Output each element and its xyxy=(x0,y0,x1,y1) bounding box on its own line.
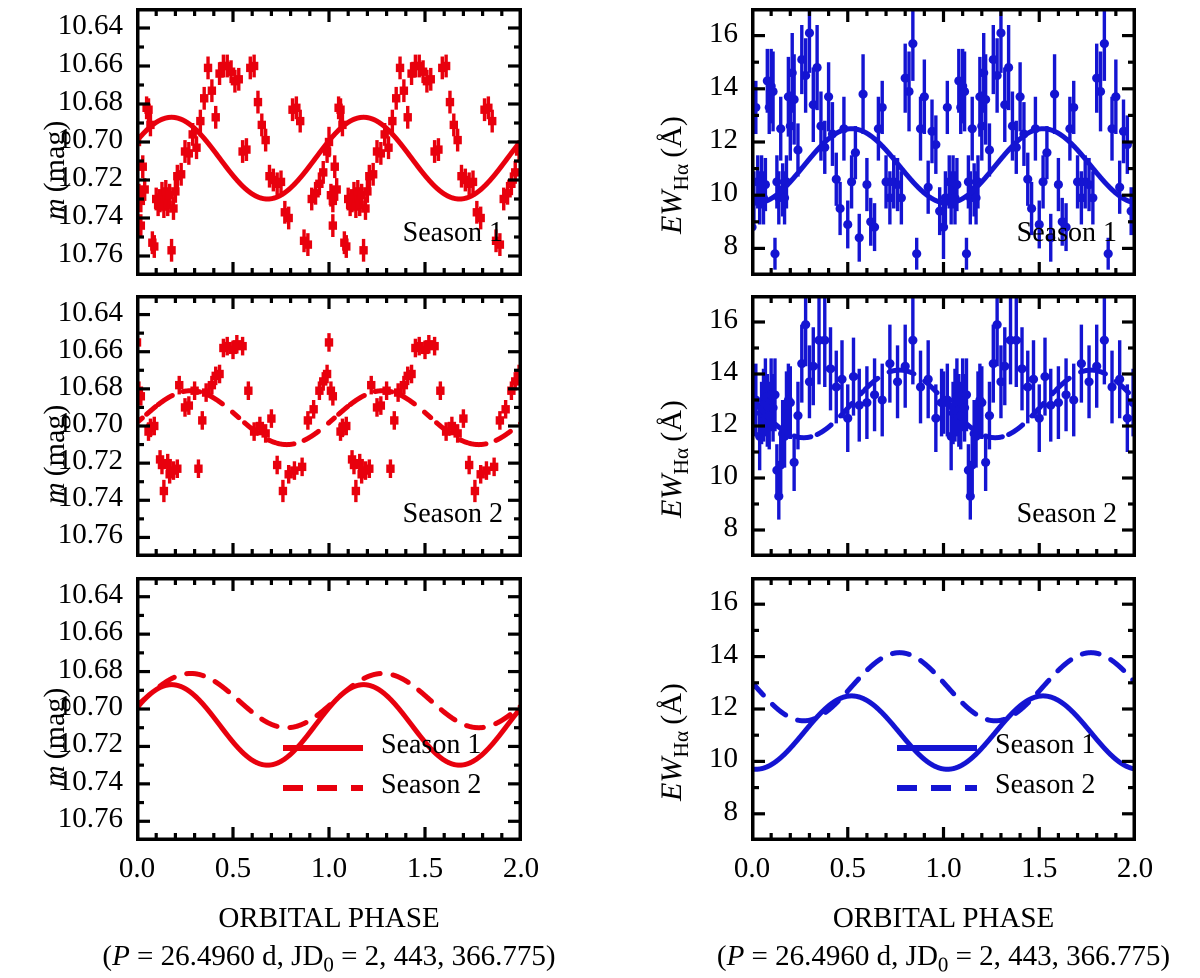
data-point xyxy=(204,64,212,72)
data-point xyxy=(171,187,179,195)
legend-label-season-1: Season 1 xyxy=(381,729,481,761)
data-point xyxy=(1023,382,1032,391)
data-point xyxy=(1100,336,1109,345)
data-point xyxy=(893,377,902,386)
data-point xyxy=(140,185,148,193)
ylabel-subscript: Hα xyxy=(669,164,693,191)
data-point xyxy=(342,242,350,250)
data-point xyxy=(450,121,458,129)
data-point xyxy=(329,221,337,229)
ytick-label-ew-comparison-1: 14 xyxy=(709,638,738,671)
period-symbol: P xyxy=(112,940,130,972)
data-point xyxy=(793,145,802,154)
data-point xyxy=(801,320,810,329)
data-point xyxy=(185,401,193,409)
data-point xyxy=(1096,87,1105,96)
xaxis-ephemeris-col0: (P = 26.4960 d, JD0 = 2, 443, 366.775) xyxy=(102,940,555,978)
data-point xyxy=(177,170,185,178)
data-point xyxy=(329,392,337,400)
data-point xyxy=(1084,377,1093,386)
ytick-label-mag-season2-1: 10.66 xyxy=(58,333,123,366)
xtick-label-col0-2: 1.0 xyxy=(311,852,347,885)
data-point xyxy=(1029,375,1038,384)
data-point xyxy=(384,144,392,152)
ylabel-subscript: Hα xyxy=(669,448,693,475)
data-point xyxy=(770,390,779,399)
data-point xyxy=(858,90,867,99)
data-point xyxy=(943,103,952,112)
data-point xyxy=(1017,364,1026,373)
data-point xyxy=(331,163,339,171)
data-point xyxy=(962,390,971,399)
data-point xyxy=(908,336,917,345)
data-point xyxy=(931,140,940,149)
data-point xyxy=(377,149,385,157)
data-point xyxy=(196,117,204,125)
ytick-label-ew-comparison-3: 10 xyxy=(709,742,738,775)
ytick-label-ew-season1-2: 12 xyxy=(709,123,738,156)
ylabel-mag-row1: m (mag) xyxy=(38,405,72,504)
ytick-label-mag-comparison-6: 10.76 xyxy=(58,802,123,835)
data-point xyxy=(1040,372,1049,381)
ylabel-unit: (Å) xyxy=(655,116,688,158)
data-point xyxy=(1111,92,1120,101)
ylabel-symbol: m xyxy=(38,765,71,787)
data-point xyxy=(1000,362,1009,371)
data-point xyxy=(488,117,496,125)
data-point xyxy=(837,375,846,384)
data-point xyxy=(996,28,1005,37)
data-point xyxy=(870,223,879,232)
data-point xyxy=(238,342,246,350)
data-point xyxy=(862,398,871,407)
data-point xyxy=(790,95,799,104)
data-point xyxy=(878,395,887,404)
ylabel-unit: (mag) xyxy=(38,121,71,193)
data-point xyxy=(916,382,925,391)
data-point xyxy=(849,372,858,381)
data-point xyxy=(150,242,158,250)
ytick-label-mag-season1-6: 10.76 xyxy=(58,237,123,270)
data-point xyxy=(325,338,333,346)
xtick-label-col1-2: 1.0 xyxy=(925,852,961,885)
ytick-label-ew-season2-4: 8 xyxy=(724,511,739,544)
data-point xyxy=(862,180,871,189)
data-point xyxy=(434,145,442,153)
ylabel-symbol: EW xyxy=(655,191,688,234)
xaxis-ephemeris-col1: (P = 26.4960 d, JD0 = 2, 443, 366.775) xyxy=(717,940,1170,978)
data-point xyxy=(369,170,377,178)
data-point xyxy=(482,466,490,474)
ylabel-unit: (Å) xyxy=(655,683,688,725)
data-point xyxy=(365,465,373,473)
data-point xyxy=(242,145,250,153)
data-point xyxy=(256,422,264,430)
data-point xyxy=(805,28,814,37)
data-point xyxy=(342,422,350,430)
xtick-label-col1-0: 0.0 xyxy=(734,852,770,885)
xtick-label-col0-4: 2.0 xyxy=(503,852,539,885)
data-point xyxy=(290,466,298,474)
data-point xyxy=(386,465,394,473)
data-point xyxy=(427,75,435,83)
data-point xyxy=(855,233,864,242)
data-point xyxy=(459,414,467,422)
data-point xyxy=(952,180,961,189)
data-point xyxy=(430,342,438,350)
data-point xyxy=(1104,249,1113,258)
data-point xyxy=(985,145,994,154)
data-point xyxy=(277,178,285,186)
data-point xyxy=(471,487,479,495)
data-point xyxy=(908,39,917,48)
data-point xyxy=(296,117,304,125)
ytick-label-ew-season1-4: 8 xyxy=(724,229,739,262)
ylabel-symbol: EW xyxy=(655,475,688,518)
data-point xyxy=(332,185,340,193)
ytick-label-mag-comparison-2: 10.68 xyxy=(58,653,123,686)
data-point xyxy=(453,136,461,144)
xtick-label-col0-3: 1.5 xyxy=(407,852,443,885)
data-point xyxy=(993,320,1002,329)
data-point xyxy=(453,429,461,437)
data-point xyxy=(511,168,519,176)
data-point xyxy=(465,461,473,469)
data-point xyxy=(1012,336,1021,345)
data-point xyxy=(244,387,252,395)
ylabel-unit: (Å) xyxy=(655,400,688,442)
legend-label-season-1: Season 1 xyxy=(995,729,1095,761)
data-point xyxy=(139,163,147,171)
data-point xyxy=(407,370,415,378)
panel-annotation-ew-season2: Season 2 xyxy=(1017,498,1117,530)
ytick-label-mag-season1-1: 10.66 xyxy=(58,47,123,80)
data-point xyxy=(198,416,206,424)
data-point xyxy=(442,62,450,70)
ylabel-symbol: EW xyxy=(655,758,688,801)
ytick-label-ew-season2-2: 12 xyxy=(709,407,738,440)
ytick-label-ew-comparison-4: 8 xyxy=(724,795,739,828)
data-point xyxy=(813,63,822,72)
data-point xyxy=(1107,382,1116,391)
data-point xyxy=(1042,148,1051,157)
data-point xyxy=(388,117,396,125)
xaxis-title-col1: ORBITAL PHASE xyxy=(833,902,1054,935)
xtick-label-col1-1: 0.5 xyxy=(830,852,866,885)
data-point xyxy=(352,487,360,495)
fit-curve-dashed xyxy=(986,435,1007,437)
data-point xyxy=(1123,414,1132,423)
ylabel-ew-row0: EWHα (Å) xyxy=(655,116,694,234)
plot-panel-ew-comparison xyxy=(751,577,1136,841)
jd-subscript: 0 xyxy=(938,953,948,977)
data-point xyxy=(790,458,799,467)
ytick-label-ew-season1-1: 14 xyxy=(709,70,738,103)
ylabel-unit: (mag) xyxy=(38,405,71,477)
data-point xyxy=(770,249,779,258)
ytick-label-ew-season1-3: 10 xyxy=(709,176,738,209)
data-point xyxy=(194,465,202,473)
ylabel-symbol: m xyxy=(38,198,71,220)
ytick-label-ew-season2-0: 16 xyxy=(709,303,738,336)
data-point xyxy=(897,193,906,202)
data-point xyxy=(885,359,894,368)
fit-curve-dashed xyxy=(329,418,334,423)
data-point xyxy=(768,87,777,96)
ytick-label-ew-season2-3: 10 xyxy=(709,459,738,492)
data-point xyxy=(1061,390,1070,399)
data-point xyxy=(920,92,929,101)
ytick-label-ew-season2-1: 14 xyxy=(709,355,738,388)
data-point xyxy=(981,95,990,104)
data-point xyxy=(235,75,243,83)
data-point xyxy=(786,398,795,407)
data-point xyxy=(144,106,152,114)
data-point xyxy=(761,180,770,189)
data-point xyxy=(367,381,375,389)
data-point xyxy=(267,414,275,422)
ytick-label-mag-comparison-0: 10.64 xyxy=(58,578,123,611)
ytick-label-mag-season2-0: 10.64 xyxy=(58,296,123,329)
data-point xyxy=(212,113,220,121)
xtick-label-col0-1: 0.5 xyxy=(215,852,251,885)
xtick-label-col1-3: 1.5 xyxy=(1021,852,1057,885)
ylabel-symbol: m xyxy=(38,482,71,504)
data-point xyxy=(835,204,844,213)
data-point xyxy=(776,124,785,133)
data-point xyxy=(1027,204,1036,213)
data-point xyxy=(843,220,852,229)
data-point xyxy=(304,240,312,248)
data-point xyxy=(832,382,841,391)
ylabel-subscript: Hα xyxy=(669,731,693,758)
data-point xyxy=(1004,63,1013,72)
jd-subscript: 0 xyxy=(323,953,333,977)
data-point xyxy=(336,106,344,114)
data-point xyxy=(363,187,371,195)
ytick-label-mag-season1-0: 10.64 xyxy=(58,9,123,42)
data-point xyxy=(279,487,287,495)
data-point xyxy=(1050,90,1059,99)
data-point xyxy=(968,124,977,133)
ytick-label-ew-comparison-2: 12 xyxy=(709,690,738,723)
data-point xyxy=(851,148,860,157)
data-point xyxy=(404,113,412,121)
ylabel-ew-row1: EWHα (Å) xyxy=(655,400,694,518)
data-point xyxy=(273,461,281,469)
data-point xyxy=(820,336,829,345)
data-point xyxy=(962,249,971,258)
data-point xyxy=(1088,193,1097,202)
data-point xyxy=(436,387,444,395)
data-point xyxy=(261,136,269,144)
fit-curve-dashed xyxy=(794,435,815,437)
data-point xyxy=(377,401,385,409)
data-point xyxy=(359,246,367,254)
data-point xyxy=(446,98,454,106)
xtick-label-col0-0: 0.0 xyxy=(119,852,155,885)
data-point xyxy=(904,87,913,96)
data-point xyxy=(192,144,200,152)
legend-label-season-2: Season 2 xyxy=(995,769,1095,801)
panel-annotation-mag-season1: Season 1 xyxy=(403,217,503,249)
data-point xyxy=(323,370,331,378)
data-point xyxy=(185,149,193,157)
data-point xyxy=(977,398,986,407)
data-point xyxy=(490,463,498,471)
data-point xyxy=(215,370,223,378)
data-point xyxy=(390,416,398,424)
data-point xyxy=(809,362,818,371)
data-point xyxy=(200,94,208,102)
data-point xyxy=(931,414,940,423)
data-point xyxy=(304,416,312,424)
data-point xyxy=(396,64,404,72)
data-point xyxy=(824,92,833,101)
data-point xyxy=(208,87,216,95)
data-point xyxy=(1054,180,1063,189)
data-point xyxy=(175,381,183,389)
data-point xyxy=(912,249,921,258)
ytick-label-ew-comparison-0: 16 xyxy=(709,585,738,618)
data-point xyxy=(361,204,369,212)
data-point xyxy=(1100,39,1109,48)
ylabel-mag-row0: m (mag) xyxy=(38,121,72,220)
data-point xyxy=(496,416,504,424)
period-symbol: P xyxy=(727,940,745,972)
panel-annotation-mag-season2: Season 2 xyxy=(403,498,503,530)
ytick-label-mag-season2-2: 10.68 xyxy=(58,370,123,403)
data-point xyxy=(392,94,400,102)
ytick-label-mag-season1-2: 10.68 xyxy=(58,85,123,118)
data-point xyxy=(167,246,175,254)
xtick-label-col1-4: 2.0 xyxy=(1117,852,1153,885)
data-point xyxy=(870,390,879,399)
data-point xyxy=(469,178,477,186)
plot-panel-mag-comparison xyxy=(136,577,522,841)
ylabel-unit: (mag) xyxy=(38,688,71,760)
ytick-label-mag-season2-6: 10.76 xyxy=(58,518,123,551)
data-point xyxy=(254,98,262,106)
data-point xyxy=(1054,398,1063,407)
data-point xyxy=(250,62,258,70)
data-point xyxy=(878,103,887,112)
ylabel-ew-row2: EWHα (Å) xyxy=(655,683,694,801)
data-point xyxy=(284,214,292,222)
data-point xyxy=(448,422,456,430)
data-point xyxy=(501,405,509,413)
data-point xyxy=(1077,359,1086,368)
data-point xyxy=(261,429,269,437)
data-point xyxy=(960,87,969,96)
data-point xyxy=(160,487,168,495)
data-point xyxy=(258,121,266,129)
data-point xyxy=(1016,92,1025,101)
data-point xyxy=(981,458,990,467)
ytick-label-ew-season1-0: 16 xyxy=(709,17,738,50)
legend-label-season-2: Season 2 xyxy=(381,769,481,801)
panel-annotation-ew-season1: Season 1 xyxy=(1017,217,1117,249)
data-point xyxy=(319,168,327,176)
data-point xyxy=(298,463,306,471)
data-point xyxy=(793,411,802,420)
data-point xyxy=(309,405,317,413)
data-point xyxy=(150,422,158,430)
xaxis-title-col0: ORBITAL PHASE xyxy=(218,902,439,935)
ylabel-mag-row2: m (mag) xyxy=(38,688,72,787)
data-point xyxy=(400,87,408,95)
data-point xyxy=(173,465,181,473)
data-point xyxy=(1069,103,1078,112)
data-point xyxy=(985,411,994,420)
data-point xyxy=(169,204,177,212)
data-point xyxy=(1069,395,1078,404)
ytick-label-mag-comparison-1: 10.66 xyxy=(58,615,123,648)
data-point xyxy=(826,364,835,373)
figure-canvas: 10.6410.6610.6810.7010.7210.7410.76Seaso… xyxy=(0,0,1200,960)
